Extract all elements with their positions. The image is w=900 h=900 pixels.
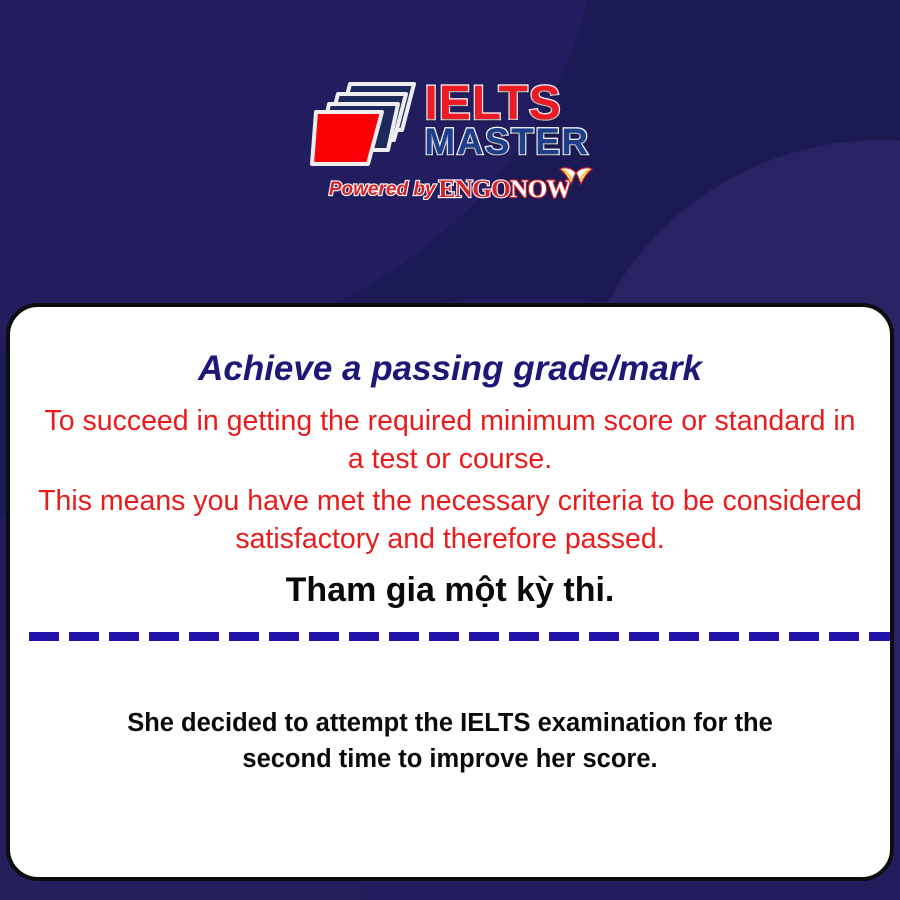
example-line-1: She decided to attempt the IELTS examina… bbox=[127, 709, 773, 737]
card-title: Achieve a passing grade/mark bbox=[10, 349, 890, 389]
slide-canvas: IELTS MASTER Powered by ENGO NOW Achieve… bbox=[0, 0, 900, 900]
definition-line-1: To succeed in getting the required minim… bbox=[44, 405, 855, 437]
brand-logo: IELTS MASTER Powered by ENGO NOW bbox=[0, 78, 900, 213]
definition-paragraph-2: This means you have met the necessary cr… bbox=[18, 483, 882, 559]
powered-by-lockup: Powered by ENGO NOW bbox=[329, 175, 571, 205]
powered-by-label: Powered by bbox=[329, 179, 436, 201]
logo-word-master: MASTER bbox=[424, 123, 589, 160]
example-sentence: She decided to attempt the IELTS examina… bbox=[70, 705, 830, 777]
brand-engo: ENGO bbox=[439, 176, 511, 204]
vietnamese-translation: Tham gia một kỳ thi. bbox=[10, 571, 890, 610]
dashed-divider bbox=[29, 632, 894, 641]
logo-word-ielts: IELTS bbox=[424, 80, 589, 127]
content-card: Achieve a passing grade/mark To succeed … bbox=[6, 303, 894, 881]
logo-primary-row: IELTS MASTER bbox=[310, 78, 589, 173]
definition-line-2: a test or course. bbox=[348, 443, 552, 475]
example-line-2: second time to improve her score. bbox=[242, 745, 657, 773]
logo-wordmark: IELTS MASTER bbox=[424, 78, 589, 160]
folder-icon bbox=[310, 78, 420, 170]
definition-line-3: This means you have met the necessary cr… bbox=[38, 485, 862, 517]
definition-line-4: satisfactory and therefore passed. bbox=[235, 523, 664, 555]
definition-paragraph-1: To succeed in getting the required minim… bbox=[18, 403, 882, 479]
open-book-icon bbox=[559, 165, 593, 189]
